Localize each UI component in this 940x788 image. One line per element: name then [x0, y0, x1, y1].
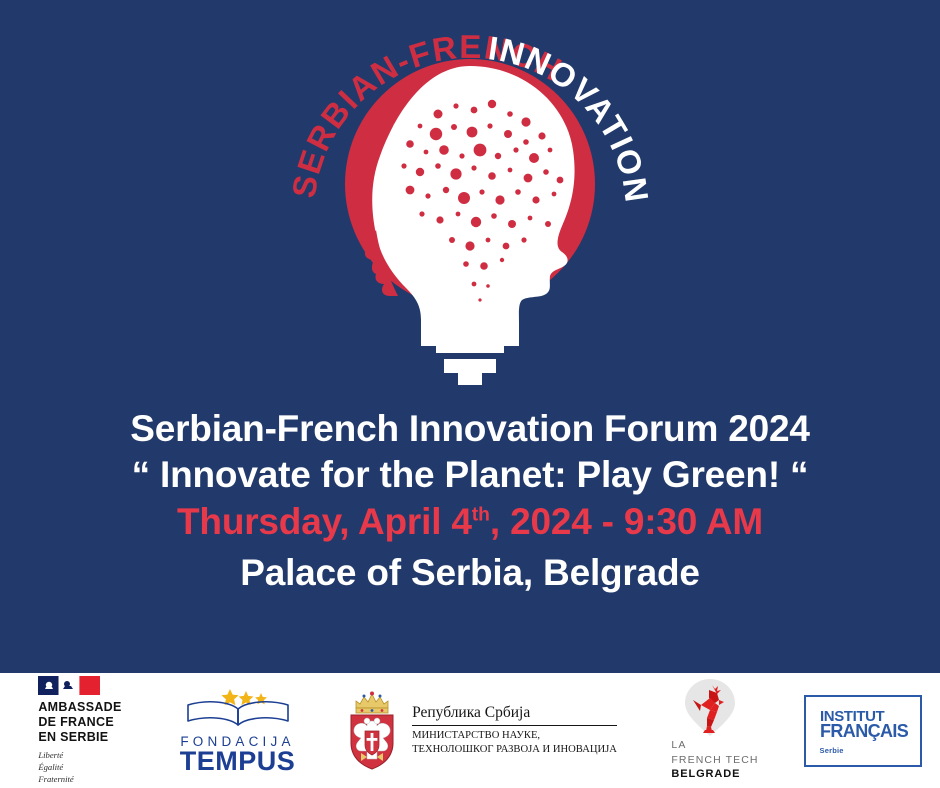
institut-francais-box: INSTITUT FRANÇAIS Serbie — [804, 695, 922, 767]
logo-ambassade-de-france: AMBASSADE DE FRANCE EN SERBIE Liberté Ég… — [0, 673, 160, 788]
tempus-word-tempus: TEMPUS — [180, 748, 296, 775]
event-logo: SERBIAN-FRENCH INNOVATION FORUM — [270, 0, 670, 394]
french-tech-line-2: FRENCH TECH — [671, 753, 758, 767]
head-with-dotted-brain-in-lightbulb-icon: SERBIAN-FRENCH INNOVATION FORUM — [270, 0, 670, 394]
institut-francais-wordmark-icon: INSTITUT FRANÇAIS — [820, 707, 916, 741]
event-date-prefix: Thursday, April 4 — [177, 501, 472, 542]
serbian-coat-of-arms-icon — [343, 691, 401, 771]
institut-francais-country: Serbie — [820, 746, 920, 755]
ambassade-name-line-3: EN SERBIE — [38, 730, 121, 745]
government-divider — [412, 725, 617, 726]
government-republic-line: Република Србија — [412, 704, 530, 725]
open-book-with-stars-icon — [178, 687, 298, 733]
event-venue: Palace of Serbia, Belgrade — [240, 552, 700, 594]
rooster-map-pin-icon — [679, 678, 741, 738]
logo-institut-francais-serbie: INSTITUT FRANÇAIS Serbie — [785, 673, 940, 788]
ambassade-name-line-1: AMBASSADE — [38, 700, 121, 715]
poster-root: SERBIAN-FRENCH INNOVATION FORUM Serbian-… — [0, 0, 940, 788]
event-datetime: Thursday, April 4th, 2024 - 9:30 AM — [177, 501, 763, 543]
government-ministry-line-1: МИНИСТАРСТВО НАУКЕ, — [412, 729, 540, 743]
ambassade-motto: Liberté Égalité Fraternité — [38, 749, 73, 786]
logo-fondacija-tempus: FONDACIJA TEMPUS — [160, 673, 315, 788]
event-slogan: “ Innovate for the Planet: Play Green! “ — [132, 454, 809, 496]
motto-liberte: Liberté — [38, 749, 73, 761]
sponsor-footer: AMBASSADE DE FRANCE EN SERBIE Liberté Ég… — [0, 673, 940, 788]
institut-francais-line-2: FRANÇAIS — [820, 721, 909, 741]
event-date-suffix: , 2024 - 9:30 AM — [490, 501, 763, 542]
event-date-ordinal-suffix: th — [472, 505, 490, 526]
french-tech-city: BELGRADE — [671, 767, 740, 782]
ambassade-name: AMBASSADE DE FRANCE EN SERBIE — [38, 700, 121, 746]
headline-block: Serbian-French Innovation Forum 2024 “ I… — [20, 408, 920, 594]
logo-la-french-tech-belgrade: LA FRENCH TECH BELGRADE — [645, 673, 785, 788]
government-ministry-line-2: ТЕХНОЛОШКОГ РАЗВОЈА И ИНОВАЦИЈА — [412, 743, 617, 757]
government-text: Република Србија МИНИСТАРСТВО НАУКЕ, ТЕХ… — [412, 704, 617, 757]
logo-republic-of-serbia-ministry: Република Србија МИНИСТАРСТВО НАУКЕ, ТЕХ… — [315, 673, 645, 788]
event-title: Serbian-French Innovation Forum 2024 — [130, 408, 810, 450]
french-tech-line-1: LA — [671, 738, 686, 752]
french-republic-flag-marianne-icon — [38, 676, 100, 695]
motto-fraternite: Fraternité — [38, 773, 73, 785]
ambassade-name-line-2: DE FRANCE — [38, 715, 121, 730]
motto-egalite: Égalité — [38, 761, 73, 773]
hero-section: SERBIAN-FRENCH INNOVATION FORUM Serbian-… — [0, 0, 940, 673]
